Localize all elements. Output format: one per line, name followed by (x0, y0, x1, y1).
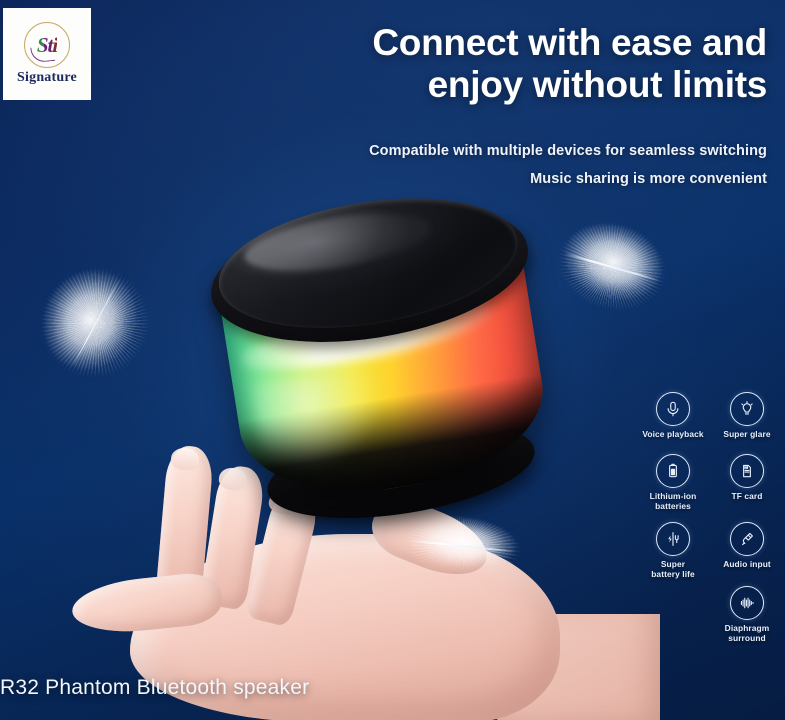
audio-plug-icon (730, 522, 764, 556)
product-banner: Sti Signature Connect with ease and enjo… (0, 0, 785, 720)
feature-audio-input: Audio input (710, 522, 784, 569)
feature-label-line-2: battery life (636, 569, 710, 579)
feature-lithium-ion-batteries: Lithium-ion batteries (636, 454, 710, 511)
subheadline-line-1: Compatible with multiple devices for sea… (369, 143, 767, 159)
feather-shaft (72, 279, 120, 367)
brand-monogram-ring: Sti (24, 22, 70, 68)
microphone-icon (656, 392, 690, 426)
feature-icon-grid: Voice playback Super glare Lithium-i (626, 392, 778, 640)
feature-label: Diaphragm (710, 623, 784, 633)
feature-label: Audio input (710, 559, 784, 569)
feature-tf-card: TF card (710, 454, 784, 501)
sound-wave-icon (730, 586, 764, 620)
lightbulb-icon (730, 392, 764, 426)
feature-label-line-2: batteries (636, 501, 710, 511)
feather-decoration-right (536, 196, 689, 335)
bluetooth-speaker-product (182, 172, 585, 554)
feature-label: Voice playback (636, 429, 710, 439)
headline: Connect with ease and enjoy without limi… (337, 22, 767, 106)
bolt-battery-icon (656, 522, 690, 556)
feature-super-glare: Super glare (710, 392, 784, 439)
battery-icon (656, 454, 690, 488)
brand-swash-icon (30, 45, 56, 63)
product-name: R32 Phantom Bluetooth speaker (0, 676, 309, 700)
feature-label: Super glare (710, 429, 784, 439)
subheadline-line-2: Music sharing is more convenient (530, 171, 767, 187)
feather-shaft (565, 253, 659, 281)
brand-name: Signature (17, 70, 77, 86)
feather-barbs (5, 233, 185, 411)
feature-voice-playback: Voice playback (636, 392, 710, 439)
tf-card-icon (730, 454, 764, 488)
feature-label: Lithium-ion (636, 491, 710, 501)
feather-vane (536, 196, 689, 335)
feature-label-line-2: surround (710, 633, 784, 643)
feather-barbs (536, 196, 689, 335)
feature-label: Super (636, 559, 710, 569)
headline-line-2: enjoy without limits (337, 64, 767, 106)
feather-vane (5, 233, 185, 411)
brand-logo-badge: Sti Signature (3, 8, 91, 100)
feature-diaphragm-surround: Diaphragm surround (710, 586, 784, 643)
feature-super-battery-life: Super battery life (636, 522, 710, 579)
feature-label: TF card (710, 491, 784, 501)
headline-line-1: Connect with ease and (337, 22, 767, 64)
feather-decoration-left (5, 233, 185, 411)
speaker-highlight-secondary (250, 361, 392, 475)
